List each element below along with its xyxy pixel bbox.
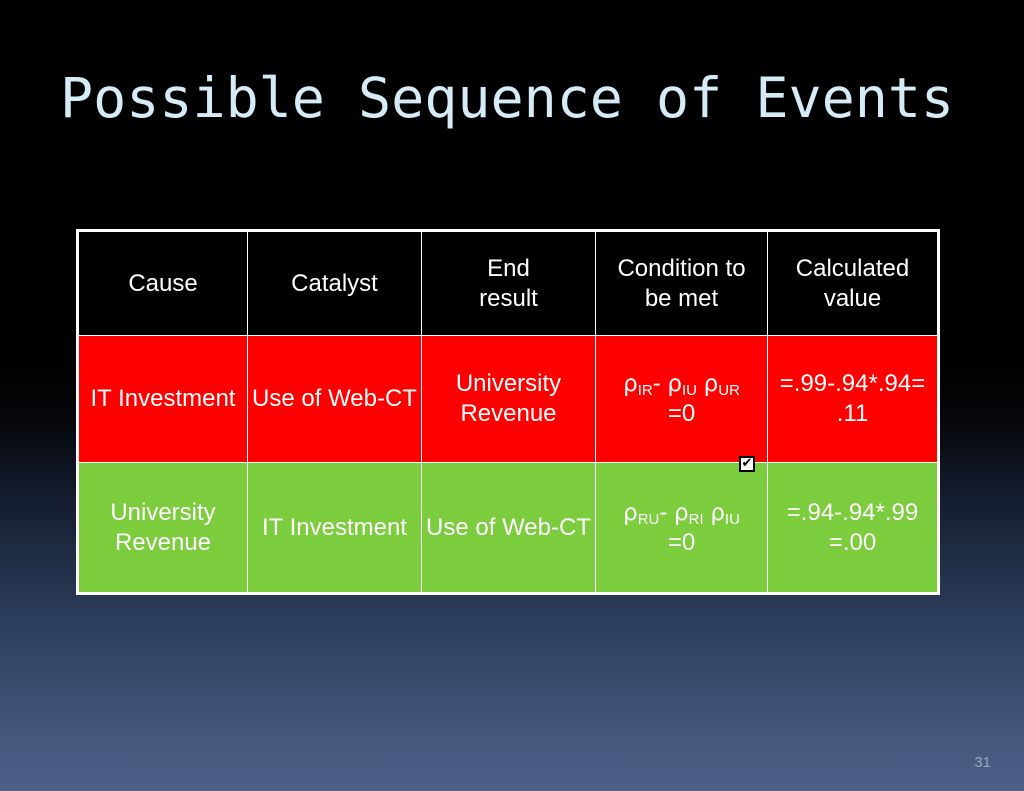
- rho-symbol: ρ: [674, 500, 689, 526]
- column-header-condition: Condition to be met: [596, 231, 768, 336]
- rho-subscript-2: RI: [689, 511, 704, 528]
- rho-subscript-1: RU: [638, 511, 660, 528]
- column-header-catalyst-line2: Catalyst: [291, 270, 378, 297]
- column-header-catalyst: Catalyst: [248, 231, 422, 336]
- column-header-end-result-line1: End: [487, 255, 530, 282]
- cell-cause: University Revenue: [78, 463, 248, 594]
- rho-symbol: ρ: [623, 371, 638, 397]
- column-header-cause: Cause: [78, 231, 248, 336]
- checkbox-checked-icon[interactable]: ✔: [739, 456, 755, 472]
- cell-calculated-value: =.99-.94*.94= .11: [768, 336, 939, 463]
- page-title: Possible Sequence of Events: [60, 66, 960, 130]
- column-header-condition-line1: Condition to: [617, 255, 745, 282]
- column-header-calculated-value-line2: value: [824, 285, 881, 312]
- column-header-calculated-value-line1: Calculated: [796, 255, 909, 282]
- cell-condition: ρIR- ρIU ρUR =0: [596, 336, 768, 463]
- cell-catalyst: Use of Web-CT: [248, 336, 422, 463]
- column-header-end-result-line2: result: [479, 285, 538, 312]
- cell-calculated-value: =.94-.94*.99 =.00: [768, 463, 939, 594]
- cell-condition: ρRU- ρRI ρIU =0: [596, 463, 768, 594]
- slide-canvas: Possible Sequence of Events Cause Cataly…: [0, 0, 1024, 791]
- column-header-end-result: End result: [422, 231, 596, 336]
- condition-equals: =0: [668, 529, 695, 556]
- column-header-cause-line2: Cause: [128, 270, 197, 297]
- table-row: University Revenue IT Investment Use of …: [78, 463, 939, 594]
- cell-end-result: Use of Web-CT: [422, 463, 596, 594]
- condition-equals: =0: [668, 400, 695, 427]
- rho-symbol: ρ: [710, 500, 725, 526]
- column-header-calculated-value: Calculated value: [768, 231, 939, 336]
- rho-subscript-3: UR: [718, 382, 740, 399]
- rho-subscript-2: IU: [682, 382, 697, 399]
- page-number: 31: [974, 754, 991, 771]
- rho-subscript-3: IU: [725, 511, 740, 528]
- cell-end-result: University Revenue: [422, 336, 596, 463]
- table-header-row: Cause Catalyst End result Condition to b…: [78, 231, 939, 336]
- rho-subscript-1: IR: [638, 382, 653, 399]
- table-row: IT Investment Use of Web-CT University R…: [78, 336, 939, 463]
- rho-symbol: ρ: [667, 371, 682, 397]
- possible-sequence-of-events-table: Cause Catalyst End result Condition to b…: [76, 229, 940, 595]
- cell-catalyst: IT Investment: [248, 463, 422, 594]
- rho-symbol: ρ: [704, 371, 719, 397]
- condition-operator: -: [653, 370, 661, 397]
- cell-cause: IT Investment: [78, 336, 248, 463]
- condition-operator: -: [659, 499, 667, 526]
- column-header-condition-line2: be met: [645, 285, 718, 312]
- rho-symbol: ρ: [623, 500, 638, 526]
